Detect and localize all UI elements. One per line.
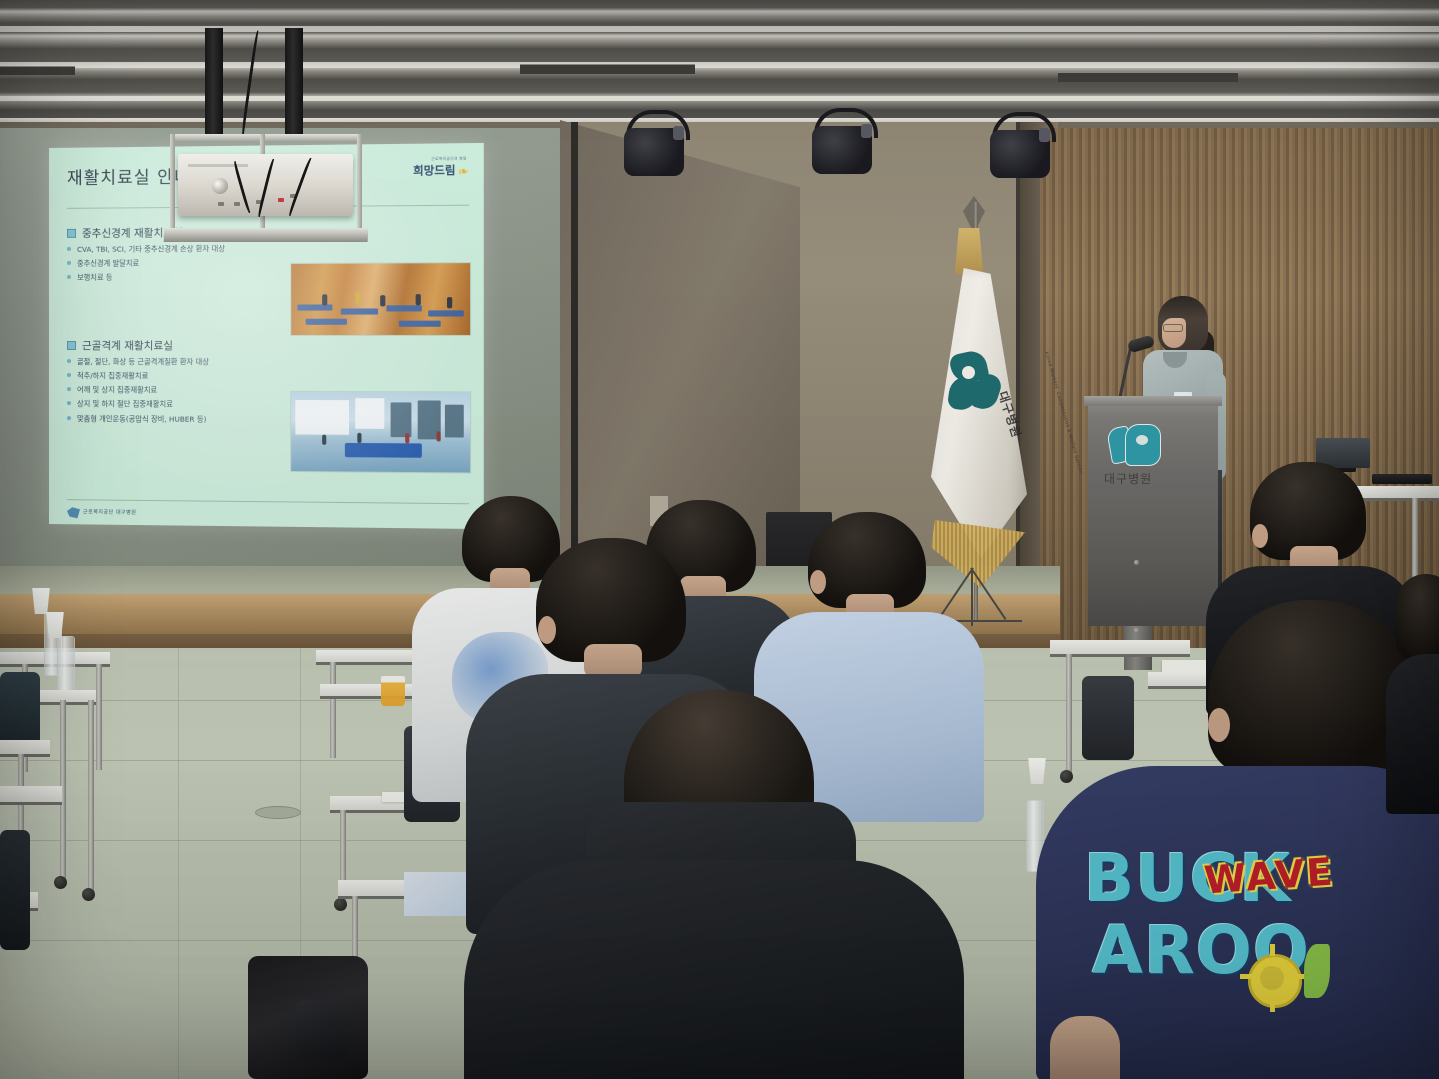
dot-bullet-icon — [67, 373, 71, 377]
therapy-bed — [341, 308, 378, 314]
neck — [584, 644, 642, 678]
therapy-bed — [306, 319, 347, 325]
lecture-hall-photo: 재활치료실 안내 근로복지공단의 희망 희망드림❧ 중추신경계 재활치료실 CV… — [0, 0, 1439, 1079]
bullet-text: 척추/하지 집중재활치료 — [77, 370, 148, 381]
podium-logo-dot — [1136, 435, 1148, 445]
dot-bullet-icon — [67, 359, 71, 363]
therapy-bed — [399, 321, 441, 327]
sun-ray — [1270, 1000, 1275, 1012]
flag-emblem — [949, 352, 1001, 414]
speaker-face — [1162, 318, 1186, 348]
ceiling-vent — [1058, 72, 1238, 82]
person-figure — [437, 431, 441, 441]
cage-top-rail — [170, 134, 362, 141]
stage-spotlight — [988, 112, 1052, 178]
floor-tile-line — [178, 648, 179, 1079]
dot-bullet-icon — [67, 416, 71, 420]
table — [0, 786, 62, 805]
exercise-machine — [391, 402, 412, 437]
cage-bottom-plate — [164, 228, 369, 242]
podium-logo-icon — [1109, 424, 1161, 466]
square-bullet-icon — [67, 341, 76, 350]
stage-spotlight — [622, 110, 686, 176]
bullet-item: 보행치료 등 — [67, 271, 259, 283]
hospital-logo-text: 근로복지공단 대구병원 — [83, 510, 136, 516]
projector-cage-mount — [170, 134, 362, 238]
sun-ray — [1292, 974, 1304, 979]
chair — [0, 830, 30, 950]
podium-logo-body — [1125, 424, 1161, 466]
therapy-bed — [386, 305, 421, 311]
av-equipment — [1372, 474, 1432, 484]
handout-paper — [1162, 660, 1212, 672]
bullet-text: 어깨 및 상지 집중재활치료 — [77, 384, 157, 395]
chair — [0, 672, 40, 750]
bullet-item: 척추/하지 집중재활치료 — [67, 370, 270, 382]
podium-fastener — [1134, 628, 1139, 633]
shirt-badge-wave: WAVE — [1203, 850, 1336, 903]
exercise-mat — [345, 443, 422, 458]
table-leg — [88, 700, 94, 892]
exercise-machine — [445, 405, 464, 438]
head-hair — [1396, 574, 1439, 660]
bullet-item: 중추신경계 발달치료 — [67, 257, 259, 269]
stage-spotlight — [810, 108, 874, 174]
ear — [1252, 524, 1268, 548]
podium-label: 대구병원 — [1104, 470, 1152, 487]
table-leg — [330, 662, 336, 758]
backpack-pocket — [296, 1000, 346, 1060]
brand-row: 희망드림❧ — [413, 161, 467, 178]
handout-paper — [404, 872, 466, 916]
ear — [538, 616, 556, 644]
floor-drain — [255, 806, 301, 819]
chair — [1082, 676, 1134, 760]
torso-jacket — [464, 860, 964, 1079]
torso-shirt — [1386, 654, 1439, 814]
table-leg — [1066, 654, 1072, 774]
cage-leg — [170, 134, 175, 238]
dot-bullet-icon — [67, 387, 71, 391]
person-figure — [322, 435, 326, 445]
wall-seam — [571, 122, 578, 602]
slide-section-2: 근골격계 재활치료실 골절, 절단, 화상 등 근골격계질환 환자 대상 척추/… — [67, 338, 270, 425]
plant-graphic — [1304, 944, 1330, 998]
hope-dream-logo: 근로복지공단의 희망 희망드림❧ — [413, 157, 467, 178]
therapy-bed — [428, 310, 464, 316]
cage-leg — [357, 134, 362, 238]
section-heading: 근골격계 재활치료실 — [67, 338, 270, 353]
window — [295, 400, 349, 435]
window — [355, 398, 384, 429]
bullet-text: 보행치료 등 — [77, 272, 113, 283]
ear — [1208, 708, 1230, 742]
stand-leg — [971, 568, 973, 626]
speaker-glasses — [1163, 324, 1183, 332]
bullet-text: 맞춤형 개인운동(공압식 장비, HUBER 등) — [77, 413, 206, 425]
stand-leg — [938, 567, 974, 620]
table-leg — [1412, 498, 1418, 582]
table-caster — [334, 898, 347, 911]
section-heading-text: 근골격계 재활치료실 — [82, 338, 173, 353]
dot-bullet-icon — [67, 402, 71, 406]
table — [0, 740, 50, 757]
bullet-item: 맞춤형 개인운동(공압식 장비, HUBER 등) — [67, 413, 270, 425]
stand-leg — [970, 567, 1006, 620]
table-leg — [96, 664, 102, 770]
sun-ray — [1240, 974, 1252, 979]
slide-footer-rule — [67, 499, 469, 504]
square-bullet-icon — [67, 229, 76, 238]
slide-photo-ortho-gym — [290, 391, 471, 474]
dot-bullet-icon — [67, 275, 71, 279]
ear — [810, 570, 826, 594]
person-figure — [416, 294, 421, 305]
bullet-text: 골절, 절단, 화상 등 근골격계질환 환자 대상 — [77, 356, 209, 367]
table-caster — [54, 876, 67, 889]
person-figure — [322, 294, 327, 305]
ceiling-vent — [520, 64, 695, 74]
juice-cup — [381, 676, 405, 706]
table-caster — [82, 888, 95, 901]
projector-mount-pole — [205, 28, 223, 140]
projector-port — [218, 202, 224, 206]
spotlight-lens — [861, 124, 872, 138]
sun-ray — [1270, 944, 1275, 956]
projector-indicator — [278, 198, 284, 202]
person-figure — [380, 295, 385, 306]
bullet-text: 상지 및 하지 절단 집중재활치료 — [77, 399, 173, 411]
dot-bullet-icon — [67, 247, 71, 251]
projector-cable — [288, 157, 314, 217]
hospital-footer-logo: 근로복지공단 대구병원 — [67, 507, 136, 519]
person-figure — [355, 292, 360, 303]
bullet-item: CVA, TBI, SCI, 기타 중추신경계 손상 환자 대상 — [67, 243, 259, 255]
brand-name: 희망드림 — [413, 163, 455, 177]
person-figure — [447, 297, 452, 308]
podium-fastener — [1134, 560, 1139, 565]
slide-photo-neuro-gym — [290, 262, 471, 336]
projector-lens — [212, 178, 228, 194]
bullet-text: 중추신경계 발달치료 — [77, 258, 139, 269]
projector-port — [234, 202, 240, 206]
therapy-bed — [297, 304, 332, 310]
ceiling-vent — [0, 66, 75, 75]
projector-cable — [257, 158, 276, 217]
bullet-item: 골절, 절단, 화상 등 근골격계질환 환자 대상 — [67, 356, 270, 368]
dot-bullet-icon — [67, 261, 71, 265]
projector-mount-pole — [285, 28, 303, 140]
bullet-item: 어깨 및 상지 집중재활치료 — [67, 384, 270, 396]
bullet-text: CVA, TBI, SCI, 기타 중추신경계 손상 환자 대상 — [77, 243, 225, 255]
bullet-item: 상지 및 하지 절단 집중재활치료 — [67, 399, 270, 411]
sun-face-inner — [1260, 966, 1284, 990]
water-bottle — [57, 636, 75, 698]
hospital-logo-icon — [67, 507, 80, 518]
spotlight-lens — [1039, 128, 1050, 142]
person-figure — [405, 433, 409, 443]
projector — [178, 154, 353, 216]
table — [320, 684, 424, 699]
emblem-center-dot — [962, 366, 975, 379]
hand-or-arm — [1050, 1016, 1120, 1079]
person-figure — [357, 433, 361, 443]
spotlight-lens — [673, 126, 684, 140]
podium-top-surface — [1084, 396, 1222, 406]
